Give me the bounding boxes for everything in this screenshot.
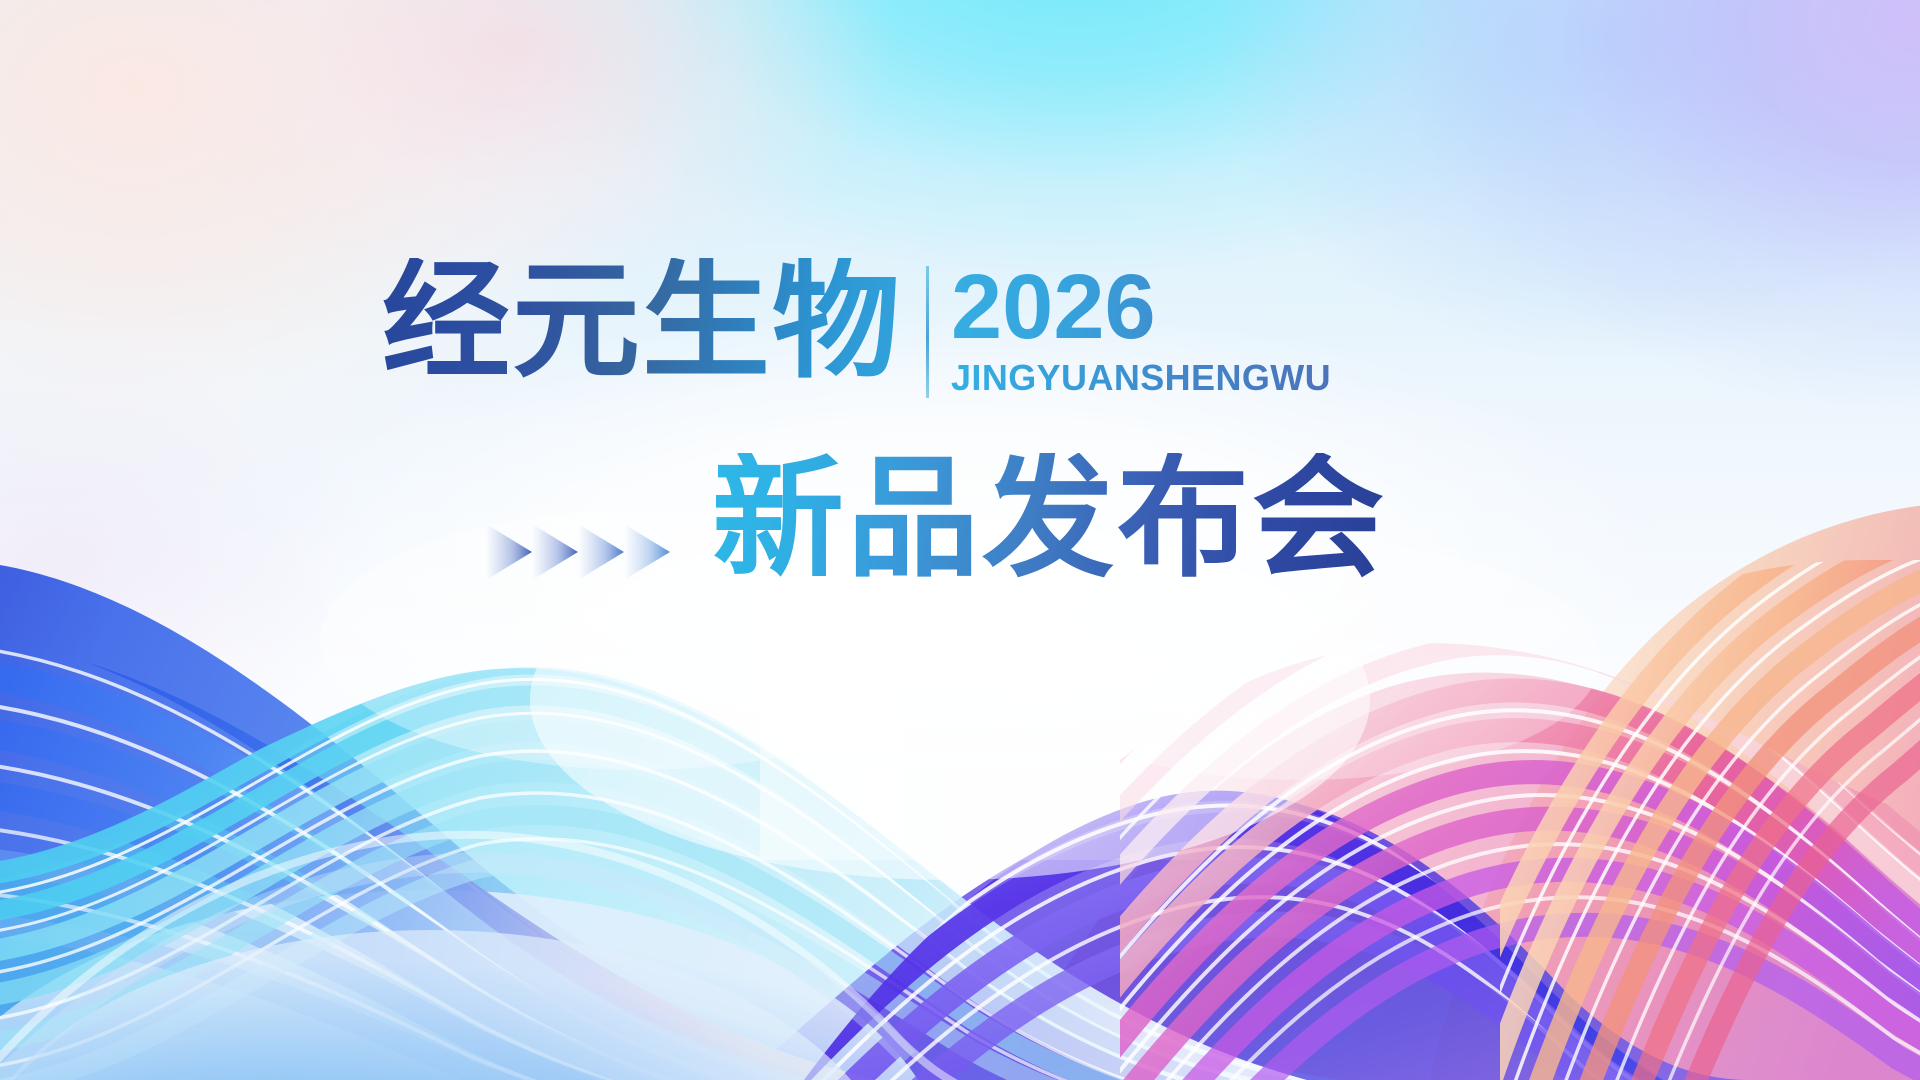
company-name-cn: 经元生物: [382, 258, 902, 386]
event-name-cn: 新品发布会: [712, 453, 1387, 585]
subheadline-row: 新品发布会: [486, 450, 1387, 588]
vertical-divider-icon: [926, 266, 929, 398]
headline-row: 经元生物 2026 JINGYUANSHENGWU: [382, 258, 1331, 399]
event-year: 2026: [951, 264, 1331, 351]
poster-title-block: 经元生物 2026 JINGYUANSHENGWU: [0, 0, 1920, 1080]
poster-canvas: 经元生物 2026 JINGYUANSHENGWU: [0, 0, 1920, 1080]
brand-side-block: 2026 JINGYUANSHENGWU: [951, 258, 1331, 399]
company-name-pinyin: JINGYUANSHENGWU: [951, 357, 1331, 399]
chevron-right-arrows-icon: [486, 516, 676, 588]
